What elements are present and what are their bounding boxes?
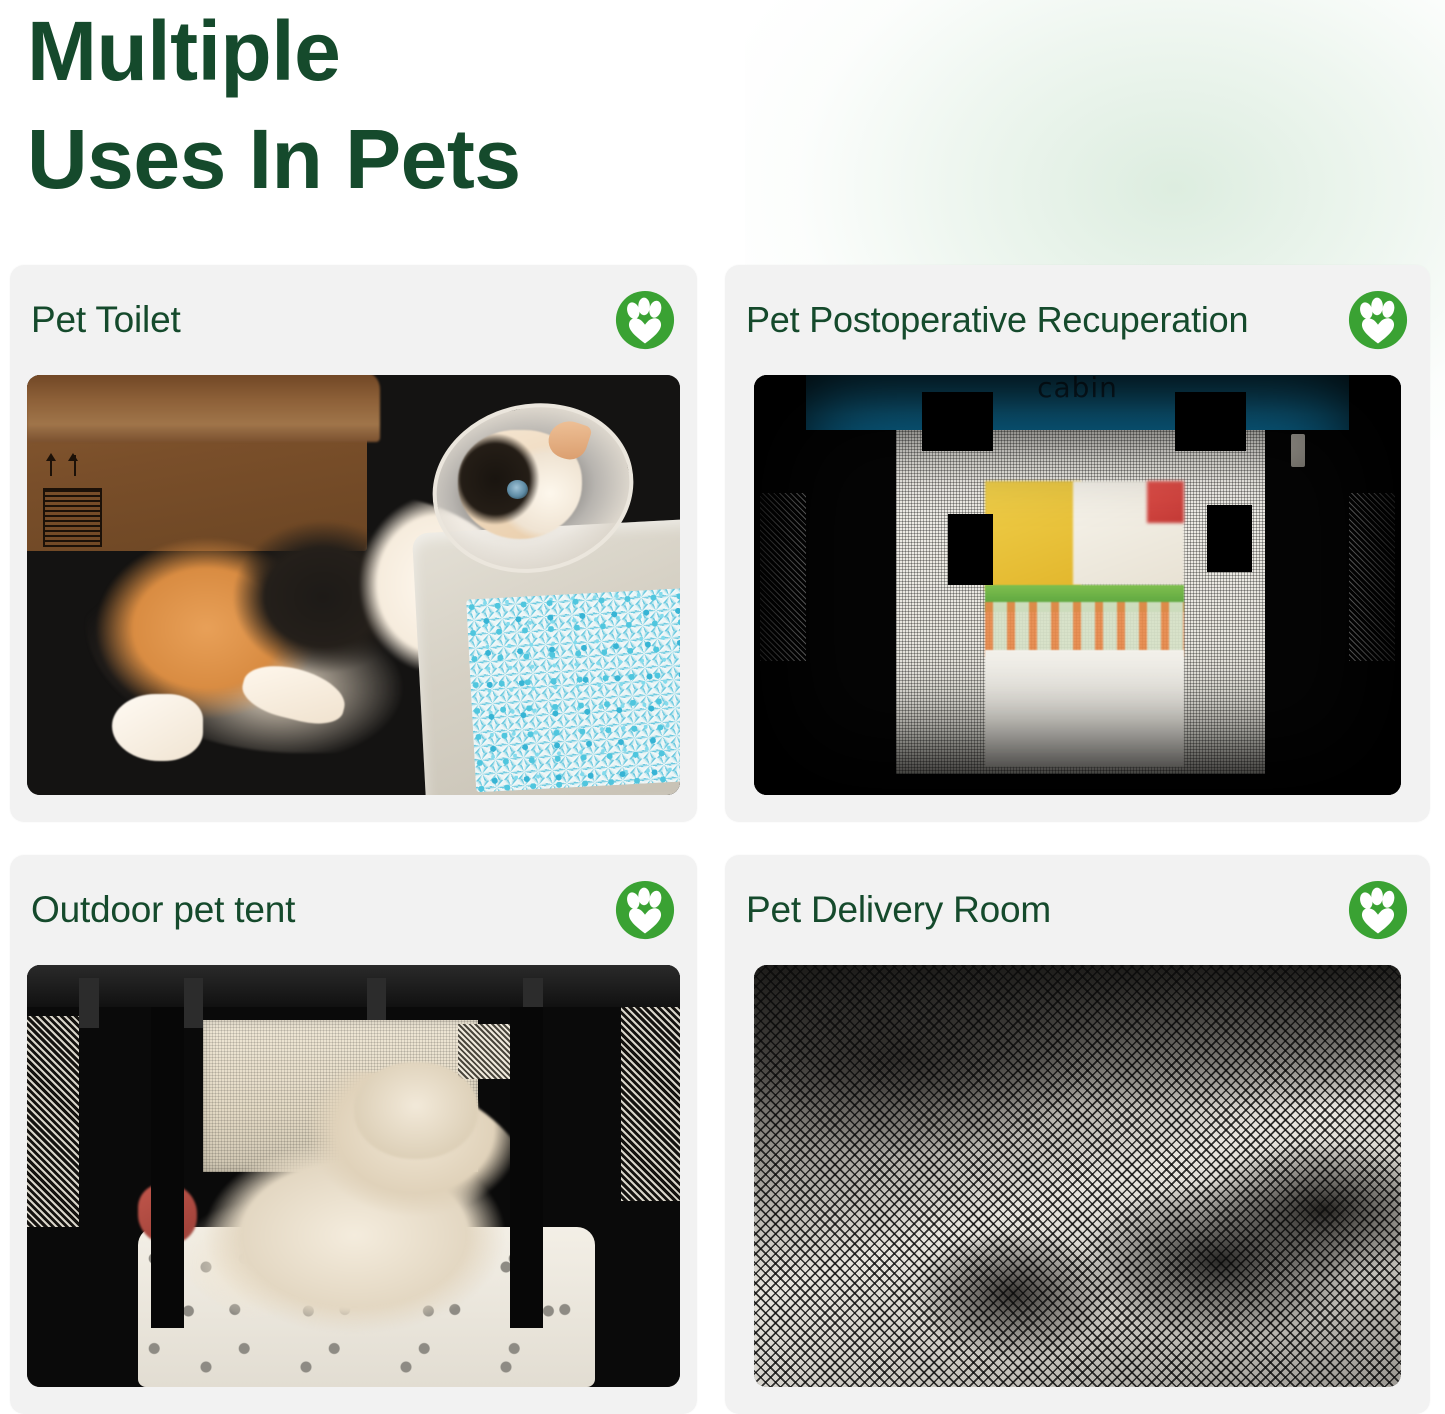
card-title: Outdoor pet tent	[31, 889, 295, 931]
page-title: Multiple Uses In Pets	[27, 0, 787, 213]
card-header: Pet Toilet	[10, 265, 697, 375]
use-case-card-pet-toilet[interactable]: Pet Toilet	[10, 265, 697, 822]
use-case-card-pet-delivery-room[interactable]: Pet Delivery Room	[725, 855, 1430, 1414]
card-header: Pet Postoperative Recuperation	[725, 265, 1430, 375]
paw-icon	[1348, 289, 1408, 351]
use-case-card-pet-postoperative-recuperation[interactable]: Pet Postoperative Recuperation cabin	[725, 265, 1430, 822]
use-case-photo	[27, 965, 680, 1387]
card-title: Pet Toilet	[31, 299, 181, 341]
paw-icon	[615, 289, 675, 351]
use-case-photo	[27, 375, 680, 795]
card-header: Outdoor pet tent	[10, 855, 697, 965]
use-case-photo: cabin	[754, 375, 1401, 795]
paw-icon	[615, 879, 675, 941]
multiple-uses-in-pets-page: Multiple Uses In Pets Pet Toilet	[0, 0, 1445, 1414]
use-case-photo	[754, 965, 1401, 1387]
card-header: Pet Delivery Room	[725, 855, 1430, 965]
card-title: Pet Delivery Room	[746, 889, 1051, 931]
use-case-card-outdoor-pet-tent[interactable]: Outdoor pet tent	[10, 855, 697, 1414]
paw-icon	[1348, 879, 1408, 941]
card-title: Pet Postoperative Recuperation	[746, 299, 1248, 341]
